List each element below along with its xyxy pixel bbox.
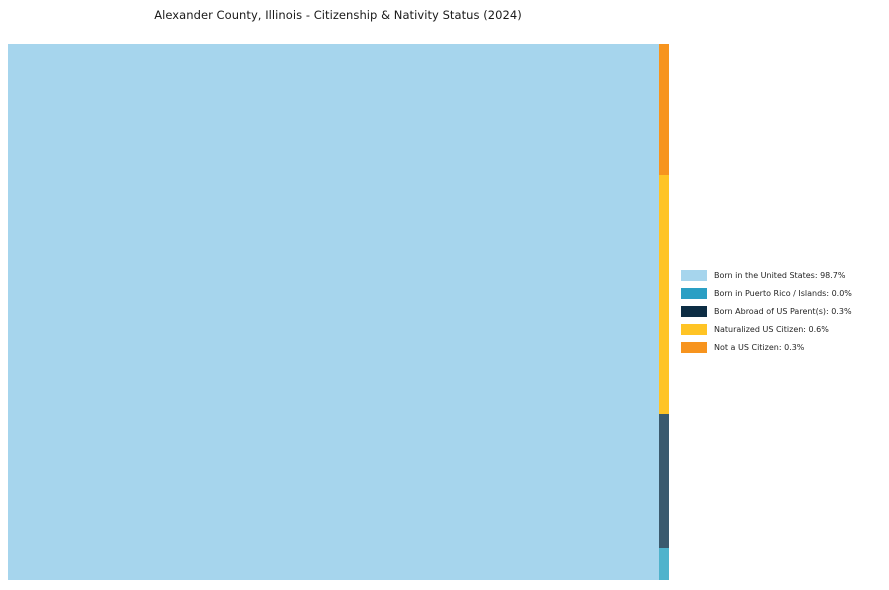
treemap-tile <box>659 44 669 175</box>
legend-swatch-icon <box>681 342 707 353</box>
treemap-tile <box>8 44 659 580</box>
legend-swatch-icon <box>681 288 707 299</box>
legend-item-label: Naturalized US Citizen: 0.6% <box>714 324 829 335</box>
chart-figure: Alexander County, Illinois - Citizenship… <box>0 0 889 590</box>
legend-swatch-icon <box>681 306 707 317</box>
treemap-tile <box>659 414 669 548</box>
legend-swatch-icon <box>681 270 707 281</box>
treemap-tile <box>659 548 669 580</box>
legend-item: Born in Puerto Rico / Islands: 0.0% <box>681 284 881 302</box>
legend-item: Naturalized US Citizen: 0.6% <box>681 320 881 338</box>
legend-item: Not a US Citizen: 0.3% <box>681 338 881 356</box>
legend-item-label: Not a US Citizen: 0.3% <box>714 342 804 353</box>
treemap-tile <box>659 175 669 414</box>
legend-item: Born in the United States: 98.7% <box>681 266 881 284</box>
legend-item: Born Abroad of US Parent(s): 0.3% <box>681 302 881 320</box>
chart-legend: Born in the United States: 98.7%Born in … <box>681 266 881 356</box>
treemap-plot-area <box>8 44 669 580</box>
chart-title: Alexander County, Illinois - Citizenship… <box>0 8 676 22</box>
legend-item-label: Born Abroad of US Parent(s): 0.3% <box>714 306 852 317</box>
legend-item-label: Born in the United States: 98.7% <box>714 270 845 281</box>
legend-item-label: Born in Puerto Rico / Islands: 0.0% <box>714 288 852 299</box>
legend-swatch-icon <box>681 324 707 335</box>
